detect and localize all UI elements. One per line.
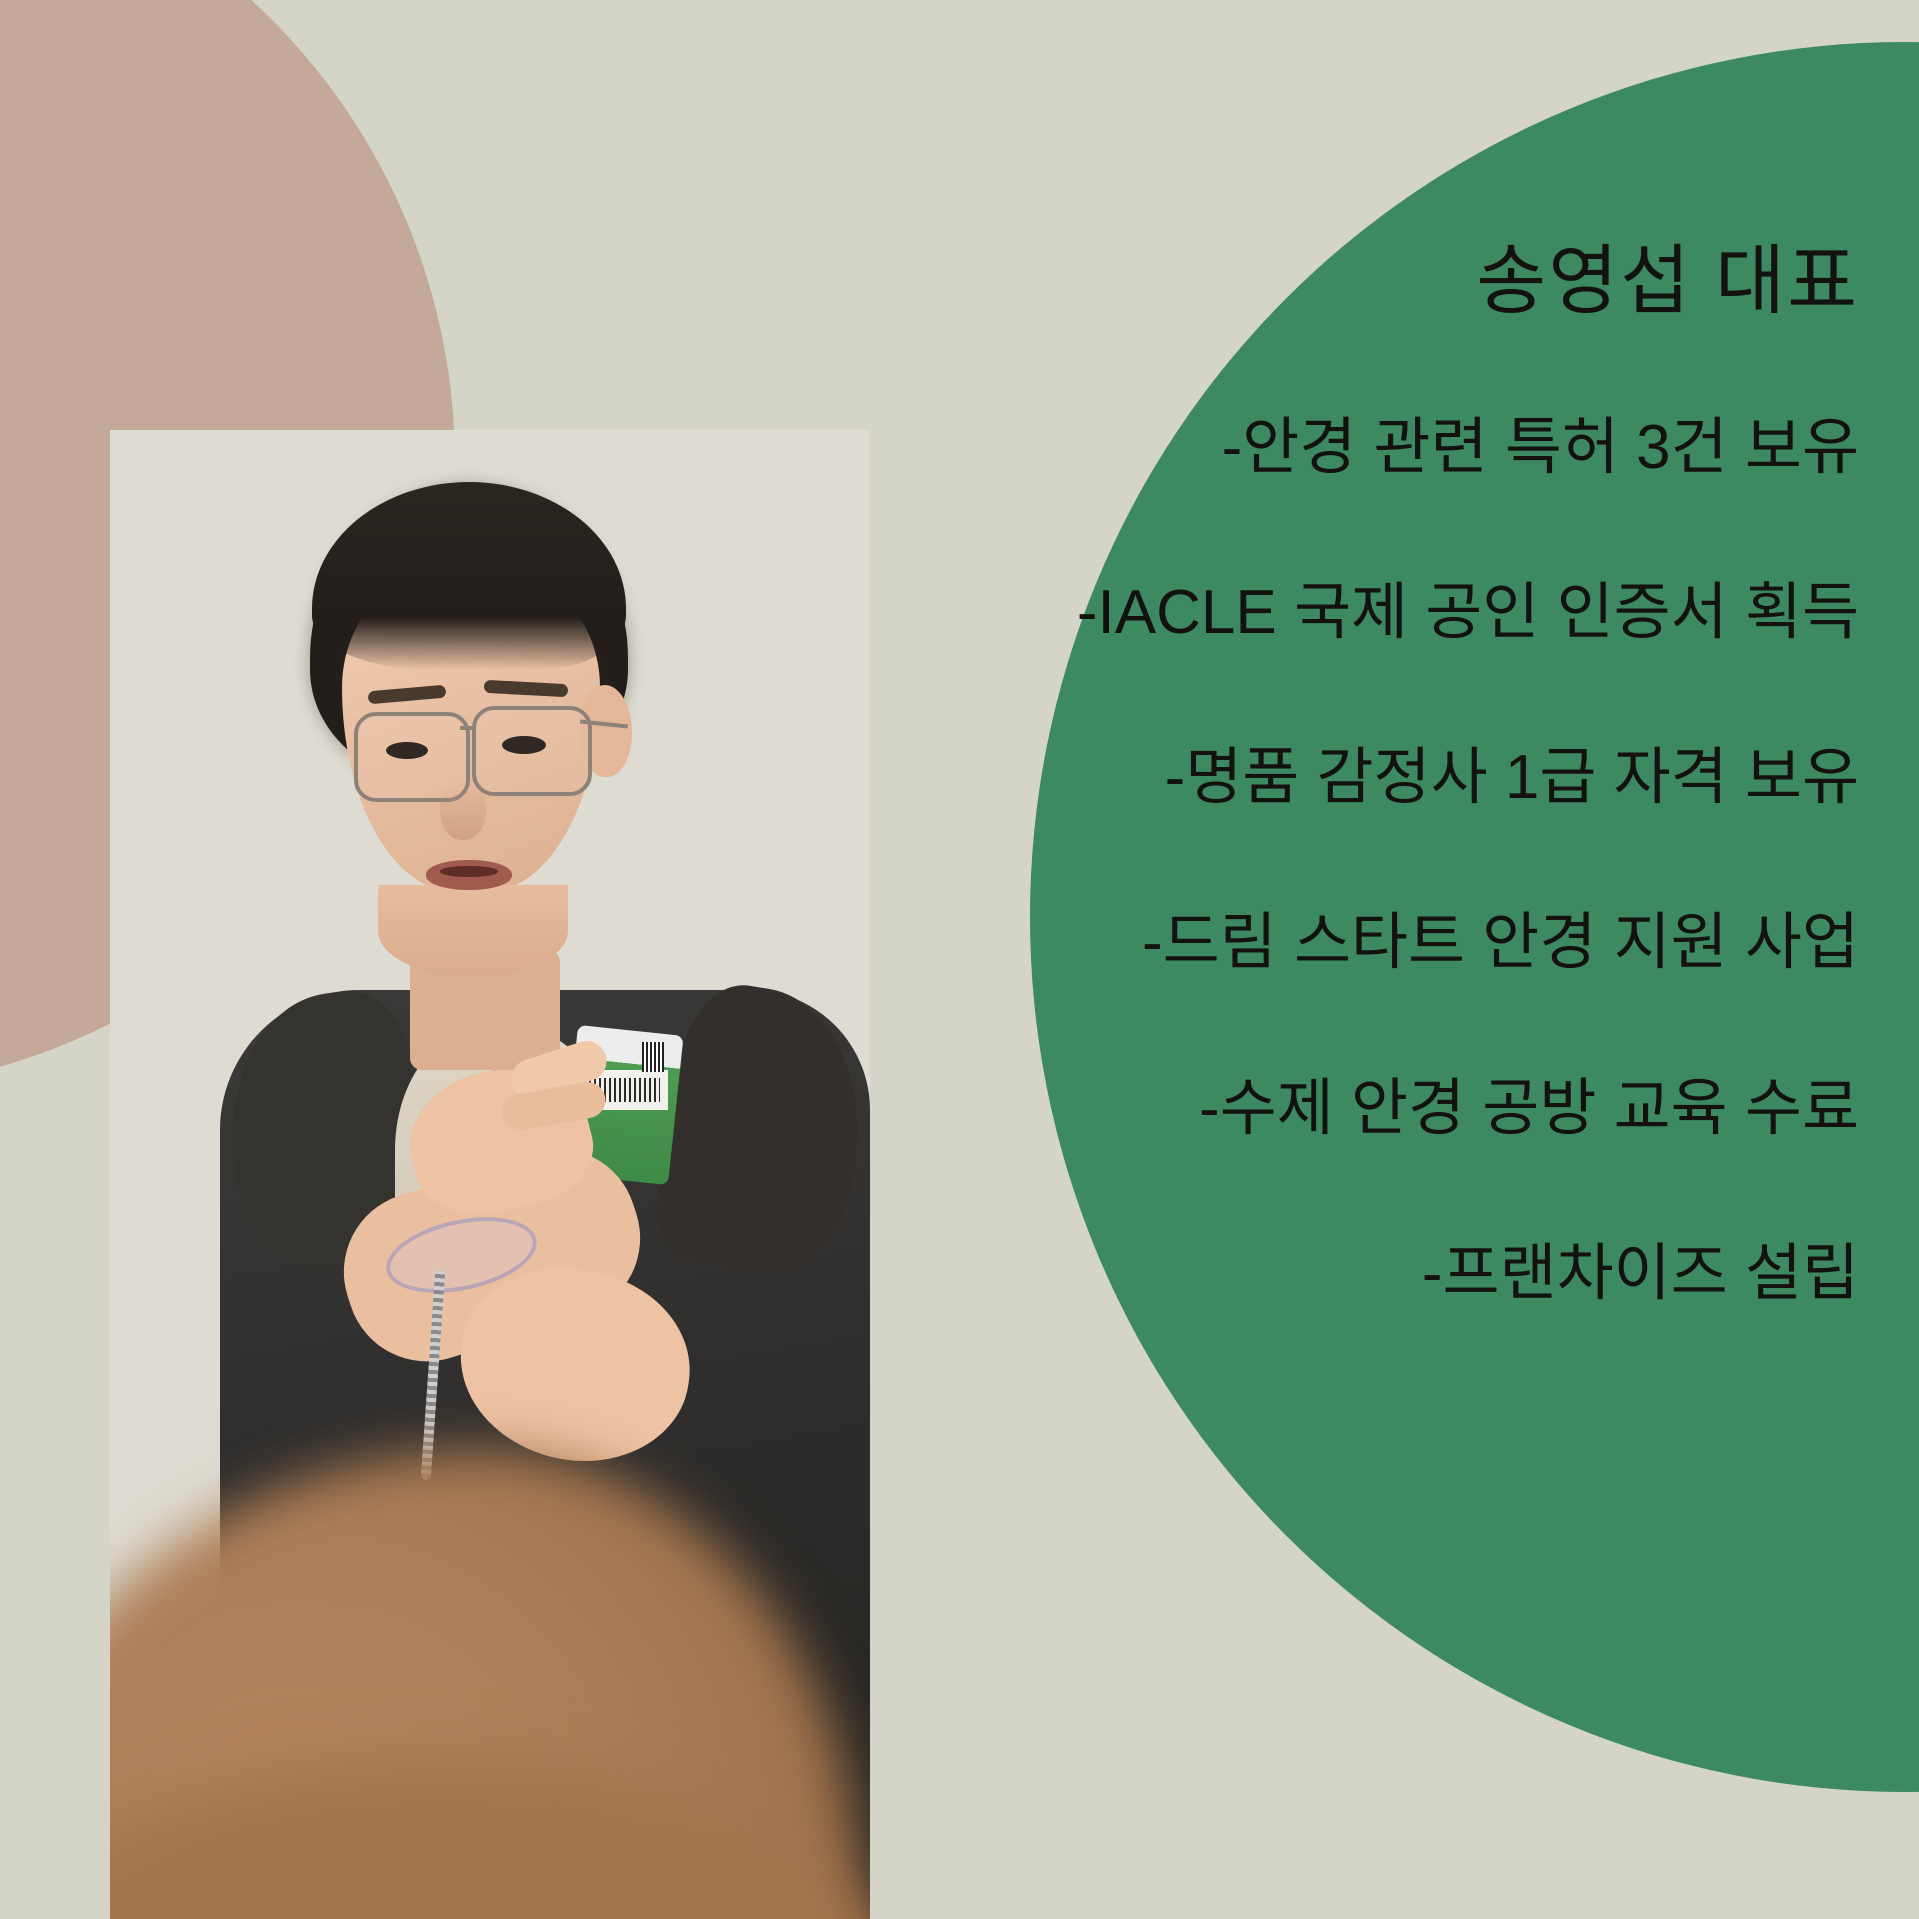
subject-photo [110, 430, 870, 1919]
hoodie-logo-text [536, 1111, 724, 1219]
profile-text-block: 송영섭 대표 -안경 관련 특허 3건 보유 -IACLE 국제 공인 인증서 … [839, 240, 1859, 1309]
page-title: 송영섭 대표 [839, 240, 1859, 324]
credential-item-5: -수제 안경 공방 교육 수료 [839, 1073, 1859, 1144]
credential-item-2: -IACLE 국제 공인 인증서 획득 [839, 577, 1859, 648]
mouth-opening [440, 866, 498, 877]
barcode-icon [642, 1042, 664, 1072]
credential-item-3: -명품 감정사 1급 자격 보유 [839, 742, 1859, 813]
nose [440, 782, 486, 840]
eyeglasses-bridge [460, 726, 476, 730]
credential-item-4: -드림 스타트 안경 지원 사업 [839, 907, 1859, 978]
credential-item-1: -안경 관련 특허 3건 보유 [839, 412, 1859, 483]
eyeglasses-lens-right-icon [472, 706, 592, 796]
chin [378, 885, 568, 977]
poster-canvas: 송영섭 대표 -안경 관련 특허 3건 보유 -IACLE 국제 공인 인증서 … [0, 0, 1919, 1919]
credential-item-6: -프랜차이즈 설립 [839, 1238, 1859, 1309]
